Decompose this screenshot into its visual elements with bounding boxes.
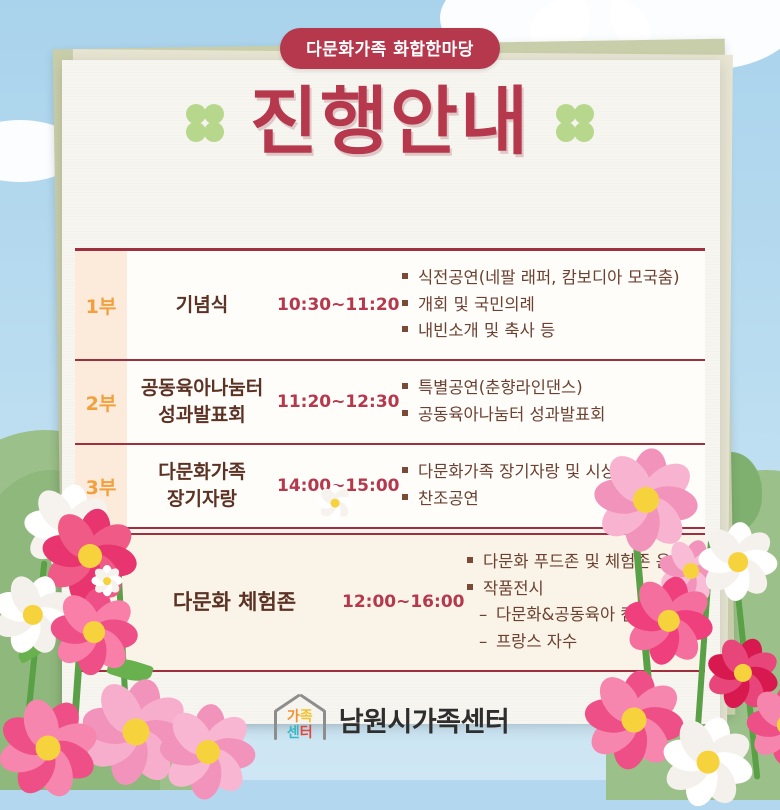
row-detail-item: 개회 및 국민의례 (401, 292, 705, 319)
row-body: 다문화 체험존12:00~16:00다문화 푸드존 및 체험존 운영작품전시다문… (127, 535, 705, 670)
row-time: 10:30~11:20 (277, 295, 389, 315)
family-center-logo-icon: 가족 센터 (271, 696, 329, 742)
schedule-row: 1부기념식10:30~11:20식전공연(네팔 래퍼, 캄보디아 모국춤)개회 … (75, 251, 705, 359)
cosmos-flower-icon (318, 486, 352, 520)
row-detail-item: 식전공연(네팔 래퍼, 캄보디아 모국춤) (401, 265, 705, 292)
row-body: 공동육아나눔터성과발표회11:20~12:30특별공연(춘향라인댄스)공동육아나… (127, 361, 705, 443)
logo-char-4: 터 (300, 725, 313, 741)
cosmos-flower-icon (748, 686, 780, 764)
schedule-row: 2부공동육아나눔터성과발표회11:20~12:30특별공연(춘향라인댄스)공동육… (75, 361, 705, 443)
row-part-label: 1부 (75, 251, 127, 359)
page-title: 진행안내 (250, 83, 530, 163)
cosmos-flower-icon (52, 590, 136, 674)
row-detail-item: 특별공연(춘향라인댄스) (401, 375, 705, 402)
clover-icon-right (556, 104, 594, 142)
cosmos-flower-icon (664, 718, 752, 806)
logo-char-3: 센 (287, 725, 300, 741)
row-detail-item: 공동육아나눔터 성과발표회 (401, 402, 705, 429)
schedule-row: 다문화 체험존12:00~16:00다문화 푸드존 및 체험존 운영작품전시다문… (75, 535, 705, 670)
row-detail-list: 식전공연(네팔 래퍼, 캄보디아 모국춤)개회 및 국민의례내빈소개 및 축사 … (389, 265, 705, 345)
logo-char-1: 가 (287, 709, 300, 725)
logo-text: 가족 센터 (271, 708, 329, 740)
event-badge: 다문화가족 화합한마당 (280, 28, 500, 69)
title-row: 진행안내 (0, 83, 780, 163)
row-program-name: 다문화 체험존 (127, 588, 342, 618)
cosmos-flower-icon (626, 578, 712, 664)
row-time: 12:00~16:00 (342, 592, 454, 612)
row-time: 11:20~12:30 (277, 392, 389, 412)
row-program-name: 기념식 (127, 292, 277, 319)
cosmos-flower-icon (92, 566, 122, 596)
logo-char-2: 족 (300, 709, 313, 725)
row-detail-item: 내빈소개 및 축사 등 (401, 318, 705, 345)
row-part-label: 2부 (75, 361, 127, 443)
cosmos-flower-icon (0, 700, 96, 796)
row-program-name: 공동육아나눔터성과발표회 (127, 375, 277, 429)
row-detail-list: 특별공연(춘향라인댄스)공동육아나눔터 성과발표회 (389, 375, 705, 428)
clover-icon-left (186, 104, 224, 142)
row-program-name: 다문화가족장기자랑 (127, 459, 277, 513)
poster-header: 다문화가족 화합한마당 진행안내 (0, 28, 780, 163)
row-body: 기념식10:30~11:20식전공연(네팔 래퍼, 캄보디아 모국춤)개회 및 … (127, 251, 705, 359)
organization-name: 남원시가족센터 (339, 700, 509, 739)
cosmos-flower-icon (596, 450, 696, 550)
cosmos-flower-icon (162, 706, 254, 798)
